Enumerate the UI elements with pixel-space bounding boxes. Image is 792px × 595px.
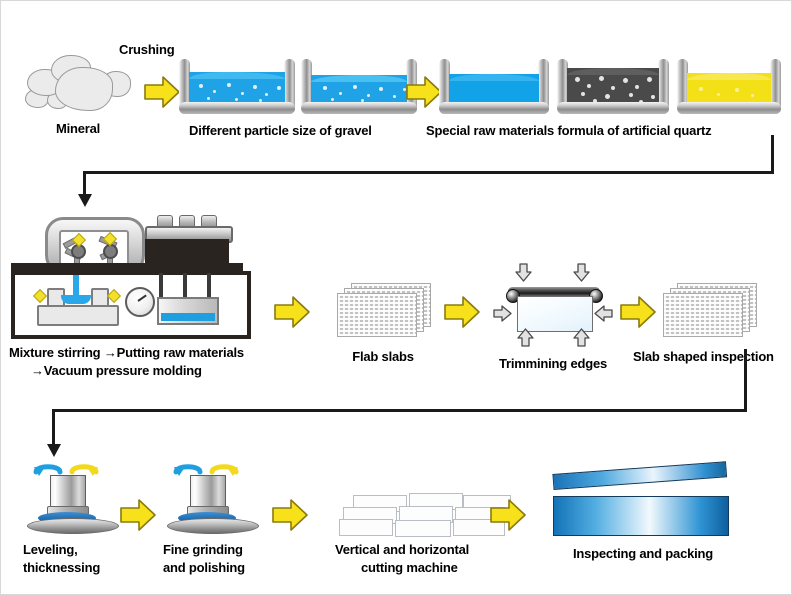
vacuum-chamber xyxy=(157,297,219,325)
trim-arrow-right xyxy=(594,305,613,327)
resin-pour-stream xyxy=(73,275,79,297)
connector-1-horizontal xyxy=(83,171,774,174)
trough-base xyxy=(301,102,417,114)
connector-1-arrowhead xyxy=(78,194,92,207)
connector-1-vertical-left xyxy=(83,171,86,195)
trim-arrow-bottom-right xyxy=(573,328,590,352)
trough-resin-liquid xyxy=(439,59,549,114)
trough-dark-granules xyxy=(557,59,669,114)
label-machine-line2: →Vacuum pressure molding xyxy=(31,363,202,378)
connector-2-vertical-right xyxy=(744,349,747,412)
cut-block xyxy=(395,520,451,537)
trough-base xyxy=(439,102,549,114)
fill-surface xyxy=(189,72,285,79)
flow-arrow-6 xyxy=(119,496,157,534)
trough-gravel-coarse xyxy=(179,59,295,114)
trim-arrow-top-left xyxy=(515,263,532,287)
fill-surface xyxy=(311,75,407,82)
label-flab-slabs: Flab slabs xyxy=(337,349,429,364)
fine-grinding-polishing-machine xyxy=(167,461,259,533)
edge-trimming-station xyxy=(493,263,613,347)
label-cutting-line1: Vertical and horizontal xyxy=(335,542,469,557)
label-crushing: Crushing xyxy=(119,42,174,57)
process-flow-diagram: Mineral Crushing xyxy=(0,0,792,595)
inspection-slab-stack xyxy=(663,283,755,341)
label-inspection: Slab shaped inspection xyxy=(633,349,774,364)
mold-tray xyxy=(37,305,119,326)
slab-sheet-front xyxy=(663,293,743,337)
grinder-spindle xyxy=(50,475,86,509)
trough-gravel-fine xyxy=(301,59,417,114)
trim-cutter-bar xyxy=(508,287,600,296)
label-gravel: Different particle size of gravel xyxy=(189,123,372,138)
grinder-base-plate xyxy=(167,518,259,534)
mixing-and-pressing-machine xyxy=(11,213,267,333)
label-mineral: Mineral xyxy=(23,121,133,136)
grinder-spindle xyxy=(190,475,226,509)
cut-stone-blocks xyxy=(339,493,469,541)
flow-arrow-4 xyxy=(443,293,481,331)
label-polishing-line2: and polishing xyxy=(163,560,245,575)
grinder-base-plate xyxy=(27,518,119,534)
fill-surface xyxy=(687,73,771,80)
finished-slab-tilted xyxy=(552,461,727,490)
flow-arrow-3 xyxy=(273,293,311,331)
label-cutting-line2: cutting machine xyxy=(361,560,458,575)
fill-surface xyxy=(567,68,659,75)
cut-block xyxy=(339,519,393,536)
flow-arrow-7 xyxy=(271,496,309,534)
trough-base xyxy=(677,102,781,114)
trough-base xyxy=(179,102,295,114)
mixer-hub-right xyxy=(103,244,118,259)
label-formula: Special raw materials formula of artific… xyxy=(426,123,711,138)
connector-1-vertical-right xyxy=(771,135,774,174)
connector-2-horizontal xyxy=(52,409,747,412)
trough-base xyxy=(557,102,669,114)
rock-large-center xyxy=(55,67,113,111)
connector-2-vertical-left xyxy=(52,409,55,445)
trough-fill xyxy=(189,72,285,105)
resin-in-mold xyxy=(61,295,91,304)
fill-surface xyxy=(449,74,539,81)
pressure-gauge xyxy=(125,287,155,317)
flow-arrow-1 xyxy=(143,73,181,111)
label-trimming: Trimmining edges xyxy=(491,356,615,371)
label-packing: Inspecting and packing xyxy=(553,546,733,561)
vacuum-chamber-fill xyxy=(161,313,215,321)
mineral-rock-pile xyxy=(23,53,133,115)
slab-sheet-front xyxy=(337,293,417,337)
trim-arrow-bottom-left xyxy=(517,328,534,352)
trough-fill xyxy=(311,75,407,105)
trough-fill xyxy=(687,73,771,105)
finished-quartz-slabs xyxy=(553,474,731,536)
label-polishing-line1: Fine grinding xyxy=(163,542,243,557)
press-head-block xyxy=(145,239,229,263)
trough-fill xyxy=(449,74,539,105)
trough-fill xyxy=(567,68,659,105)
trim-arrow-left xyxy=(493,305,512,327)
flow-arrow-5 xyxy=(619,293,657,331)
label-machine-line1: Mixture stirring →Putting raw materials xyxy=(9,345,244,360)
gauge-needle xyxy=(137,294,146,301)
connector-2-arrowhead xyxy=(47,444,61,457)
trim-arrow-top-right xyxy=(573,263,590,287)
flab-slab-stack xyxy=(337,283,429,341)
flow-arrow-8 xyxy=(489,496,527,534)
leveling-thicknessing-machine xyxy=(27,461,119,533)
trim-slab xyxy=(517,296,593,332)
trough-yellow-powder xyxy=(677,59,781,114)
flow-arrow-2 xyxy=(405,73,443,111)
finished-slab-base xyxy=(553,496,729,536)
label-leveling-line2: thicknessing xyxy=(23,560,100,575)
label-leveling-line1: Leveling, xyxy=(23,542,78,557)
